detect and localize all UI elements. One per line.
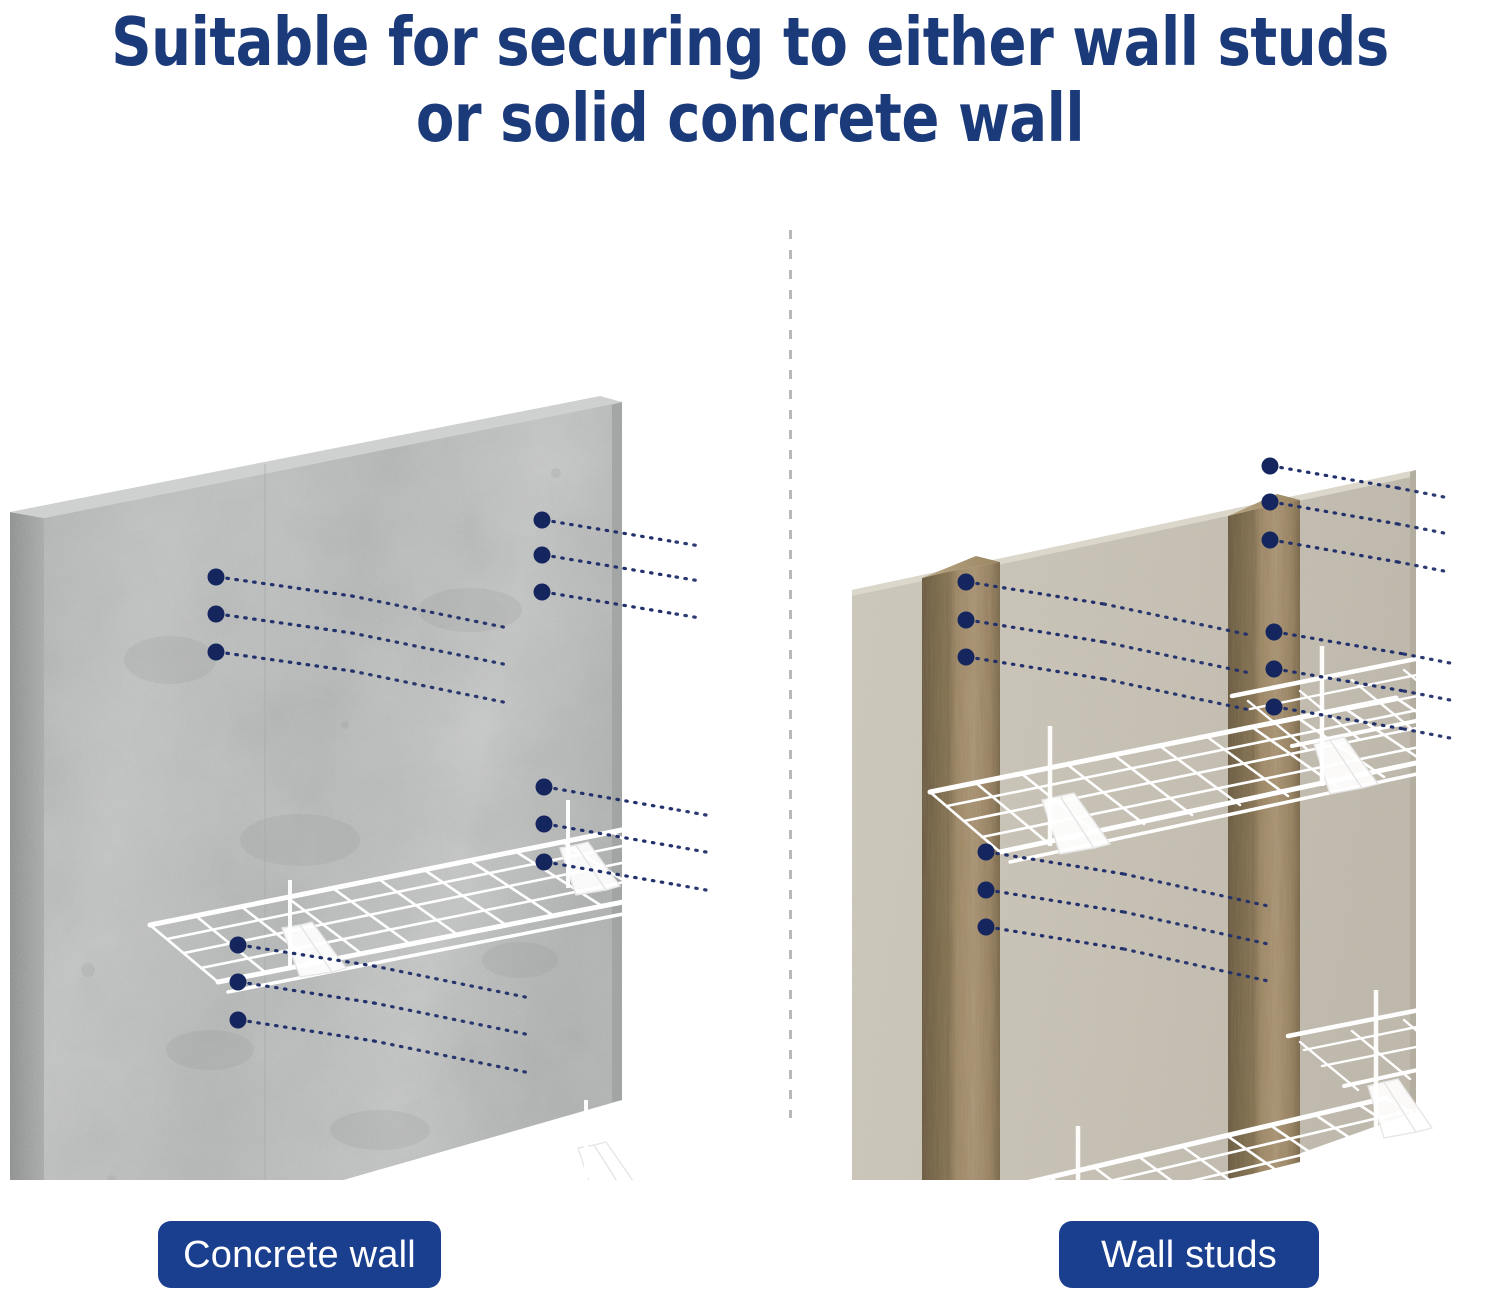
title-line-1: Suitable for securing to either wall stu… [53,4,1448,80]
badge-wall-studs: Wall studs [1059,1221,1319,1288]
wood-screw-head [978,844,995,936]
anchor-screw-head [230,937,247,1029]
concrete-wall-illustration [10,396,836,1180]
anchor-screw-head [208,569,225,661]
wood-screw-head [1262,458,1279,549]
page-title: Suitable for securing to either wall stu… [0,4,1500,156]
illustration-area [0,180,1500,1180]
wood-screw-head [1266,624,1283,716]
badge-concrete-wall: Concrete wall [158,1221,441,1288]
anchor-screw-head [536,779,553,871]
panel-divider [789,230,792,1118]
wall-stud-right [1228,494,1300,1179]
title-line-2: or solid concrete wall [53,80,1448,156]
wall-stud-left [922,556,1000,1180]
anchor-screw-head [534,512,551,601]
infographic-canvas: Suitable for securing to either wall stu… [0,0,1500,1295]
wood-screw-head [958,574,975,666]
wall-studs-illustration [852,458,1500,1181]
